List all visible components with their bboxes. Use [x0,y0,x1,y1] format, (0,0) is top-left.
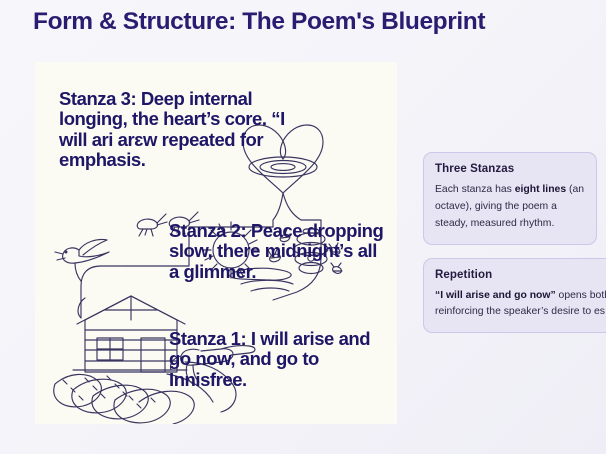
card-body: “I will arise and go now” opens both s r… [435,288,606,322]
illustration-panel: Stanza 3: Deep internal longing, the hea… [35,62,397,424]
cricket-icon [137,214,167,236]
card-body-highlight: eight lines [515,184,566,195]
card-body: Each stanza has eight lines (an octave),… [435,182,585,233]
page-title: Form & Structure: The Poem's Blueprint [33,8,485,36]
info-card-repetition: Repetition “I will arise and go now” ope… [423,258,606,334]
card-title: Repetition [435,269,606,281]
stanza-1-caption: Stanza 1: I will arise and go now, and g… [169,329,391,390]
info-card-three-stanzas: Three Stanzas Each stanza has eight line… [423,152,597,245]
info-card-list: Three Stanzas Each stanza has eight line… [423,152,606,346]
stanza-2-caption: Stanza 2: Peace dropping slow, there mid… [169,221,387,282]
hummingbird-icon [55,239,109,281]
card-body-highlight: “I will arise and go now” [435,290,556,301]
stanza-3-caption: Stanza 3: Deep internal longing, the hea… [59,89,291,170]
card-title: Three Stanzas [435,163,585,175]
card-body-pre: Each stanza has [435,184,515,195]
